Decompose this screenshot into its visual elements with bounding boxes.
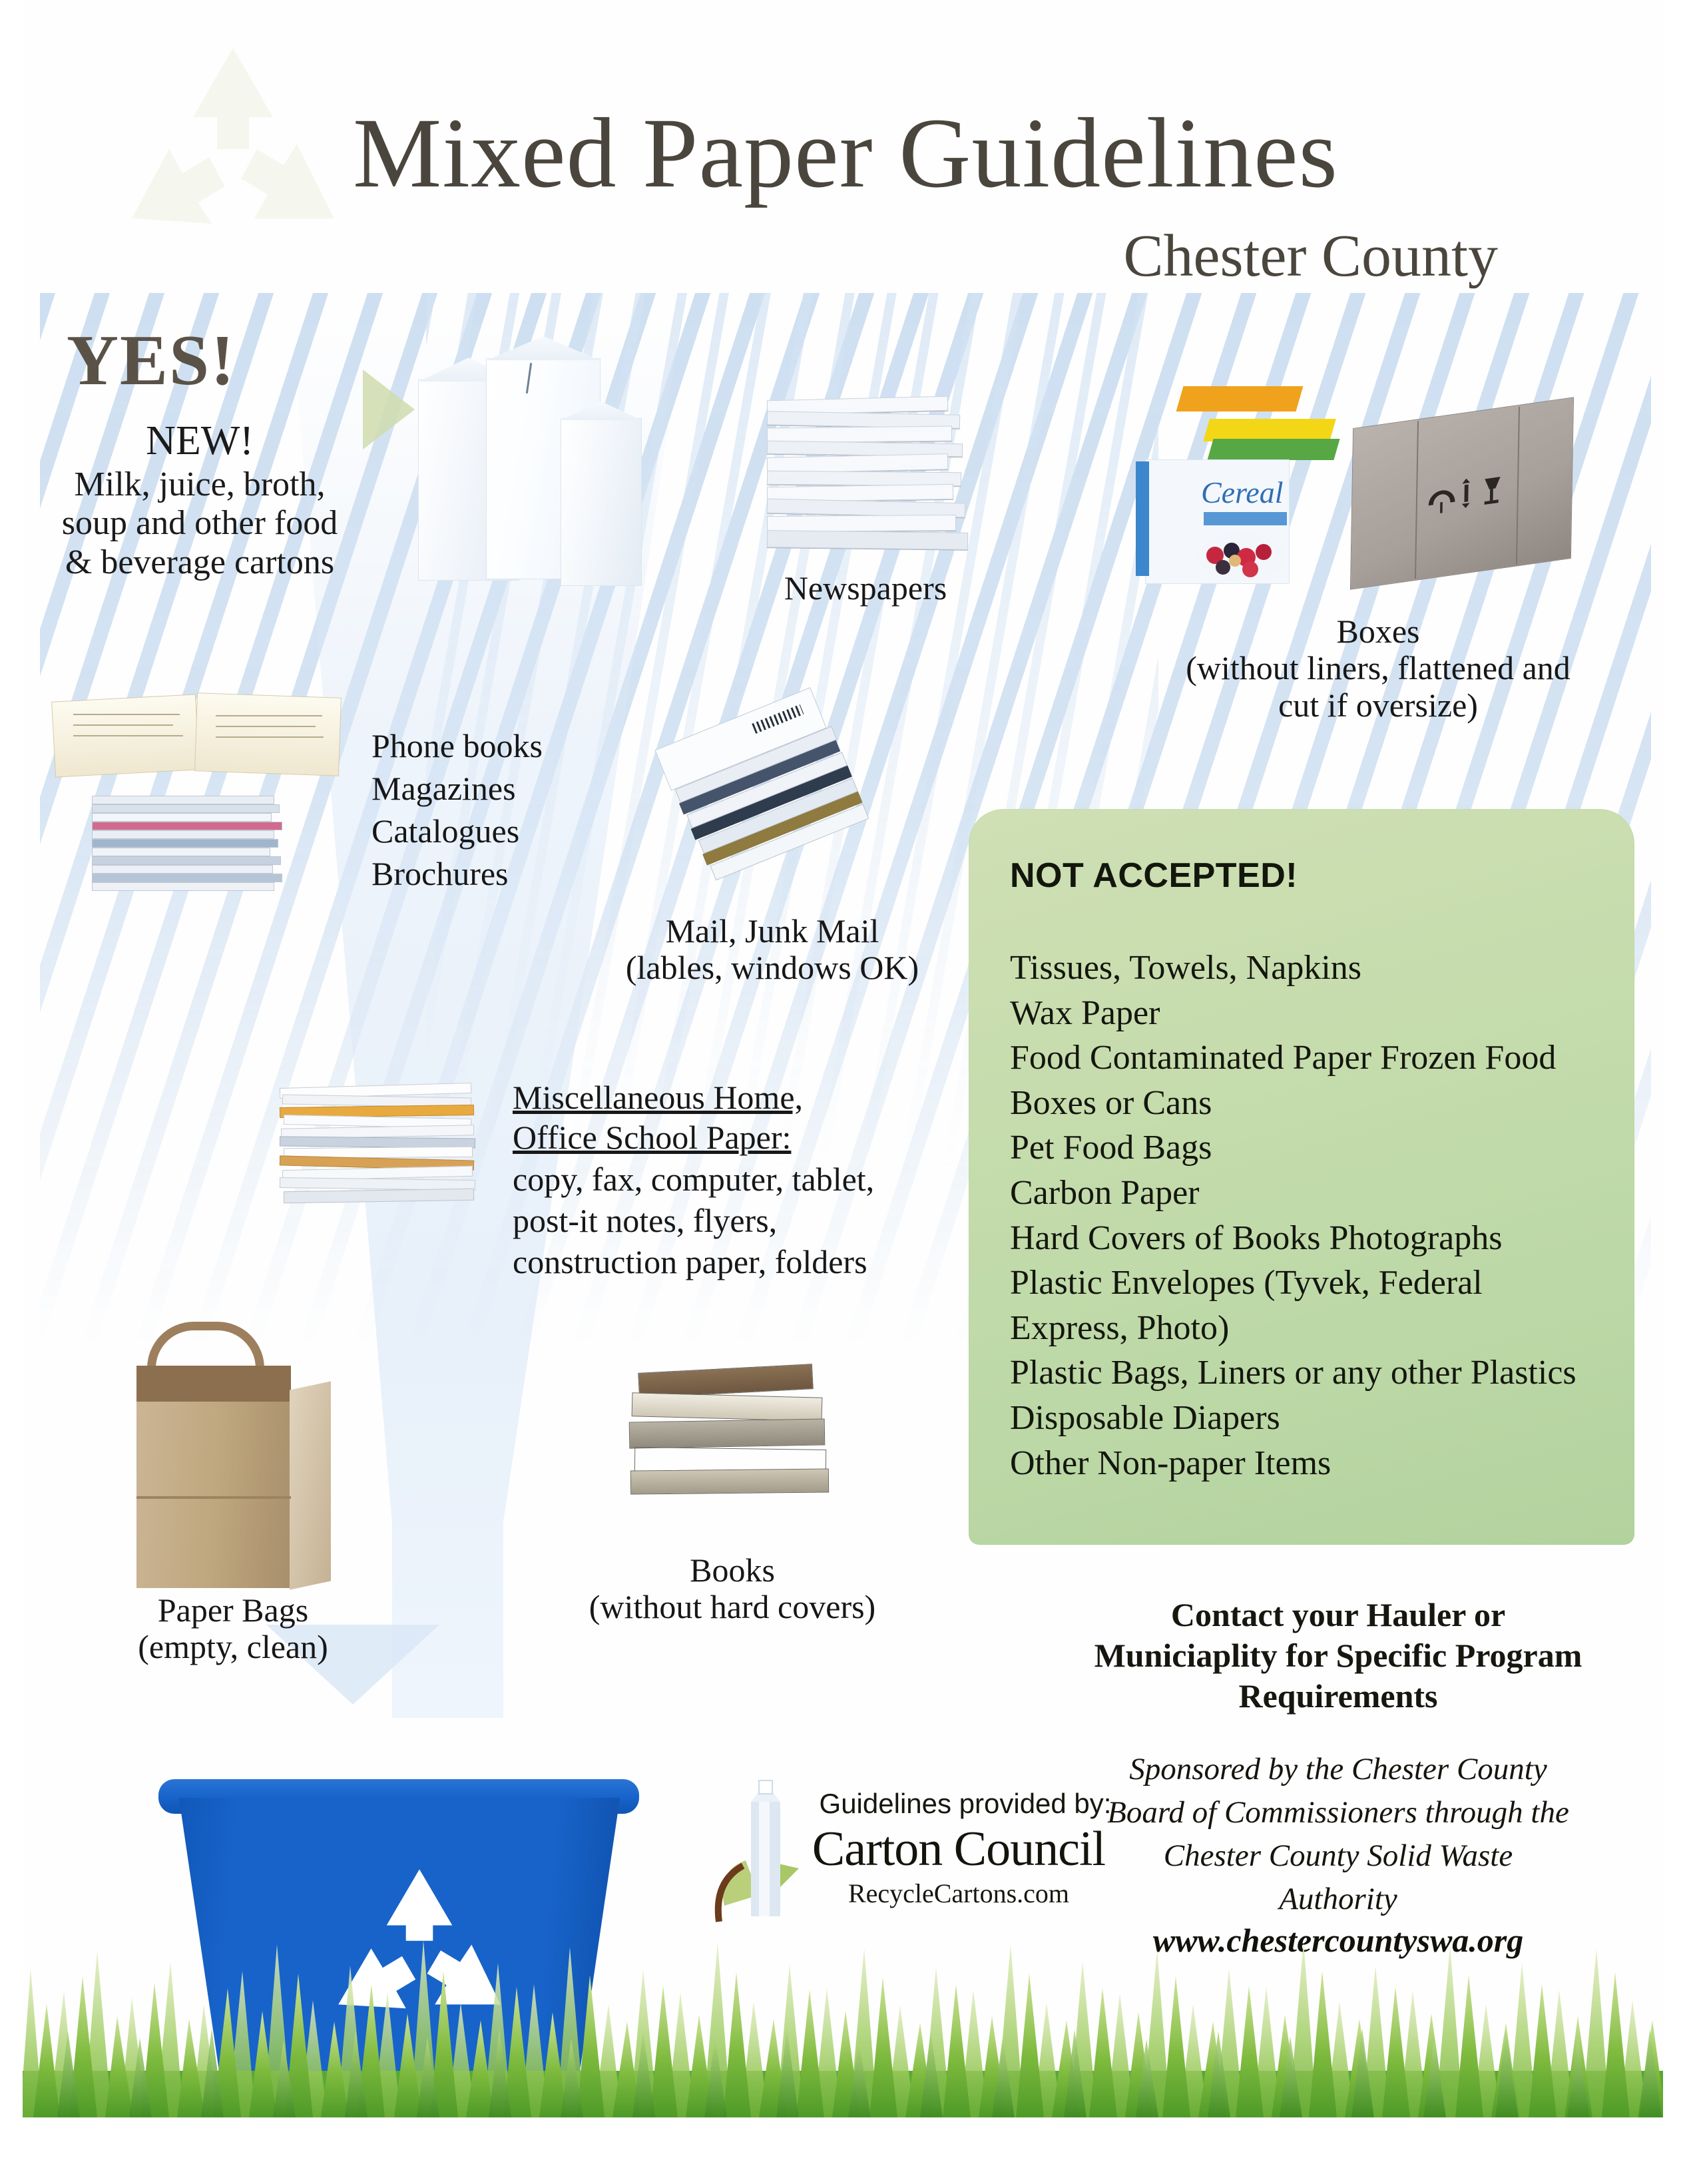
not-accepted-title: NOT ACCEPTED! [1010, 856, 1298, 896]
paper-bags-caption-note: (empty, clean) [87, 1628, 379, 1665]
books-stack-image [629, 1368, 842, 1495]
not-accepted-list: Tissues, Towels, Napkins Wax Paper Food … [1010, 946, 1609, 1486]
carton-council-name: Carton Council [796, 1821, 1122, 1878]
paper-bag-image [123, 1322, 336, 1608]
list-item: Disposable Diapers [1010, 1396, 1609, 1441]
misc-paper-body: copy, fax, computer, tablet, post-it not… [513, 1159, 979, 1282]
misc-paper-heading-1: Miscellaneous Home, [513, 1079, 939, 1116]
books-caption-title: Books [553, 1551, 912, 1589]
list-item: Hard Covers of Books Photographs [1010, 1216, 1609, 1261]
list-item: Plastic Bags, Liners or any other Plasti… [1010, 1350, 1609, 1396]
cereal-box-image: Cereal [1132, 390, 1371, 583]
page-subtitle: Chester County [1124, 226, 1498, 286]
newspapers-image [767, 398, 967, 551]
newspapers-caption: Newspapers [732, 569, 999, 607]
recycle-symbol-icon [320, 1858, 519, 2051]
page-title: Mixed Paper Guidelines [0, 103, 1691, 203]
list-item: Other Non-paper Items [1010, 1441, 1609, 1486]
carton-council-provided-label: Guidelines provided by: [819, 1788, 1112, 1820]
boxes-caption-title: Boxes [1172, 613, 1584, 650]
poster-canvas: Mixed Paper Guidelines Chester County YE… [0, 0, 1691, 2184]
sponsor-notice: Sponsored by the Chester County Board of… [1039, 1748, 1638, 1920]
list-item: Plastic Envelopes (Tyvek, Federal [1010, 1260, 1609, 1306]
books-caption-note: (without hard covers) [539, 1588, 925, 1625]
not-accepted-panel: NOT ACCEPTED! Tissues, Towels, Napkins W… [969, 809, 1634, 1545]
carton-council-url[interactable]: RecycleCartons.com [796, 1878, 1122, 1909]
new-cartons-block: NEW! Milk, juice, broth, soup and other … [40, 419, 360, 582]
list-item: Boxes or Cans [1010, 1081, 1609, 1126]
left-white-margin [0, 0, 23, 2184]
list-item: Pet Food Bags [1010, 1125, 1609, 1171]
list-item: Tissues, Towels, Napkins [1010, 946, 1609, 991]
yes-heading: YES! [67, 320, 236, 402]
list-item: Wax Paper [1010, 991, 1609, 1036]
right-white-margin [1663, 0, 1691, 2184]
milk-cartons-image [386, 346, 646, 613]
new-cartons-text: Milk, juice, broth, soup and other food … [40, 465, 360, 582]
boxes-caption-note: (without liners, flattened and cut if ov… [1138, 649, 1618, 724]
open-book-image [53, 686, 346, 779]
bottom-white-margin [0, 2120, 1691, 2184]
list-item: Carbon Paper [1010, 1171, 1609, 1216]
cereal-box-label: Cereal [1201, 475, 1284, 510]
misc-paper-heading-2: Office School Paper: [513, 1119, 939, 1156]
contact-notice: Contact your Hauler or Municiaplity for … [1019, 1595, 1658, 1717]
new-badge: NEW! [40, 419, 360, 463]
flattened-cardboard-box-image [1350, 397, 1574, 589]
swa-website-link[interactable]: www.chestercountyswa.org [1039, 1921, 1638, 1960]
office-paper-stack-image [280, 1085, 479, 1212]
list-item: Express, Photo) [1010, 1306, 1609, 1351]
magazines-stack-image [92, 796, 285, 902]
paper-bags-caption-title: Paper Bags [87, 1591, 379, 1629]
mail-caption-title: Mail, Junk Mail [586, 912, 959, 950]
fragile-shipping-icons [1423, 469, 1517, 519]
mail-caption-note: (lables, windows OK) [586, 949, 959, 986]
list-item: Food Contaminated Paper Frozen Food [1010, 1035, 1609, 1081]
